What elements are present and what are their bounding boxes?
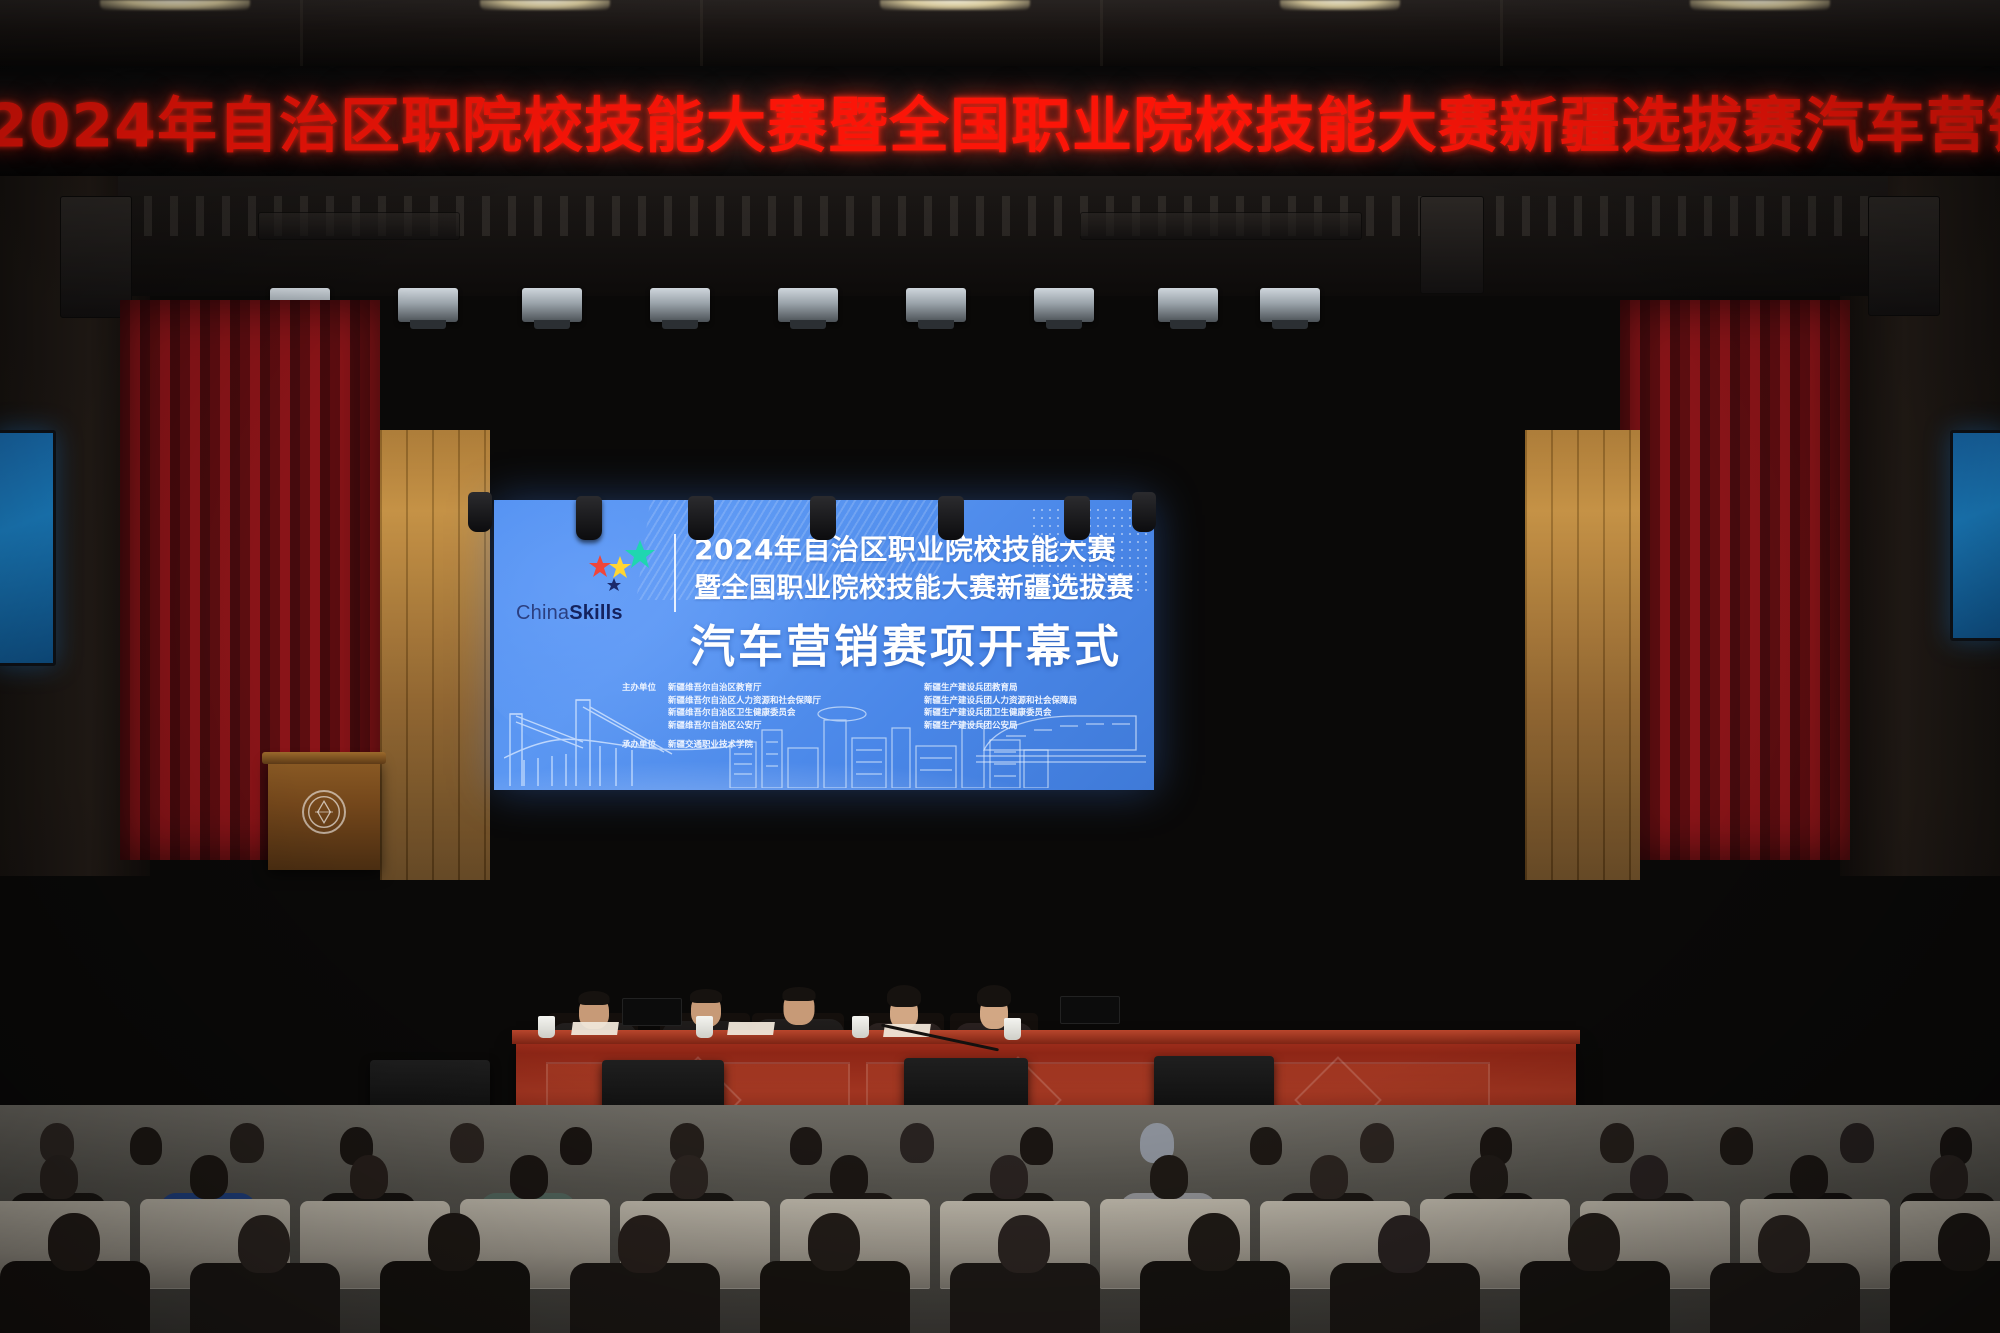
led-banner: 2024年自治区职院校技能大赛暨全国职业院校技能大赛新疆选拔赛汽车营销赛项开幕 [0,66,2000,176]
audience-head [238,1215,290,1273]
logo-skills-text: Skills [569,602,622,624]
school-emblem-icon [302,790,346,834]
audience-head [48,1213,100,1271]
stage-wood-panel-right [1525,430,1640,880]
stage-curtain-right [1620,300,1850,860]
audience-row-front [0,1219,2000,1333]
par-light-bar [250,288,1340,334]
moving-head-light [688,496,714,540]
audience-shoulders [1890,1261,2000,1333]
moving-head-light [576,496,602,540]
audience-head [998,1215,1050,1273]
paper-cup [696,1016,713,1038]
par-light [1034,288,1094,322]
screen-divider [674,534,676,612]
desk-monitor [622,998,682,1026]
train-graphic-icon [976,706,1146,766]
par-light [1158,288,1218,322]
audience-shoulders [380,1261,530,1333]
paper-cup [538,1016,555,1038]
auditorium-photo: 2024年自治区职院校技能大赛暨全国职业院校技能大赛新疆选拔赛汽车营销赛项开幕 [0,0,2000,1333]
speaker-box [258,212,460,240]
document-paper [727,1022,775,1035]
screen-line-2: 暨全国职业院校技能大赛新疆选拔赛 [694,566,1134,605]
podium-top [262,752,386,764]
par-light [906,288,966,322]
logo-china-text: China [516,602,569,624]
speaker-box [1868,196,1940,316]
desk-monitor [1060,996,1120,1024]
podium [268,760,380,870]
moving-head-light [468,492,492,532]
chinaskills-logo: ChinaSkills [514,542,662,638]
moving-head-light [1132,492,1156,532]
audience-head [1568,1213,1620,1271]
moving-head-light [810,496,836,540]
speaker-box [1080,212,1362,240]
moving-head-light [938,496,964,540]
star-cluster-icon [584,538,662,592]
audience-head [1188,1213,1240,1271]
audience-shoulders [570,1263,720,1333]
audience-shoulders [190,1263,340,1333]
chinaskills-wordmark: ChinaSkills [516,602,623,625]
table-top-edge [512,1030,1580,1044]
par-light [650,288,710,322]
side-display-right [1950,430,2000,641]
audience-head [1758,1215,1810,1273]
par-light [1260,288,1320,322]
audience-head [1938,1213,1990,1271]
document-paper [571,1022,619,1035]
audience-head [428,1213,480,1271]
stage-led-screen: ChinaSkills 2024年自治区职业院校技能大赛 暨全国职业院校技能大赛… [494,500,1154,790]
moving-head-light [1064,496,1090,540]
side-display-left [0,430,56,666]
audience-head [808,1213,860,1271]
audience-shoulders [950,1263,1100,1333]
audience-head [1378,1215,1430,1273]
audience-head [618,1215,670,1273]
bridge-graphic-icon [504,660,734,790]
par-light [522,288,582,322]
audience-shoulders [0,1261,150,1333]
par-light [398,288,458,322]
audience-shoulders [760,1261,910,1333]
paper-cup [1004,1018,1021,1040]
screen-line-1: 2024年自治区职业院校技能大赛 [694,528,1116,568]
audience-shoulders [1520,1261,1670,1333]
paper-cup [852,1016,869,1038]
par-light [778,288,838,322]
ceiling [0,0,2000,66]
banner-text: 2024年自治区职院校技能大赛暨全国职业院校技能大赛新疆选拔赛汽车营销赛项开幕 [0,78,2000,165]
audience-shoulders [1710,1263,1860,1333]
audience-area [0,1105,2000,1333]
speaker-box [1420,196,1484,294]
audience-shoulders [1140,1261,1290,1333]
audience-shoulders [1330,1263,1480,1333]
